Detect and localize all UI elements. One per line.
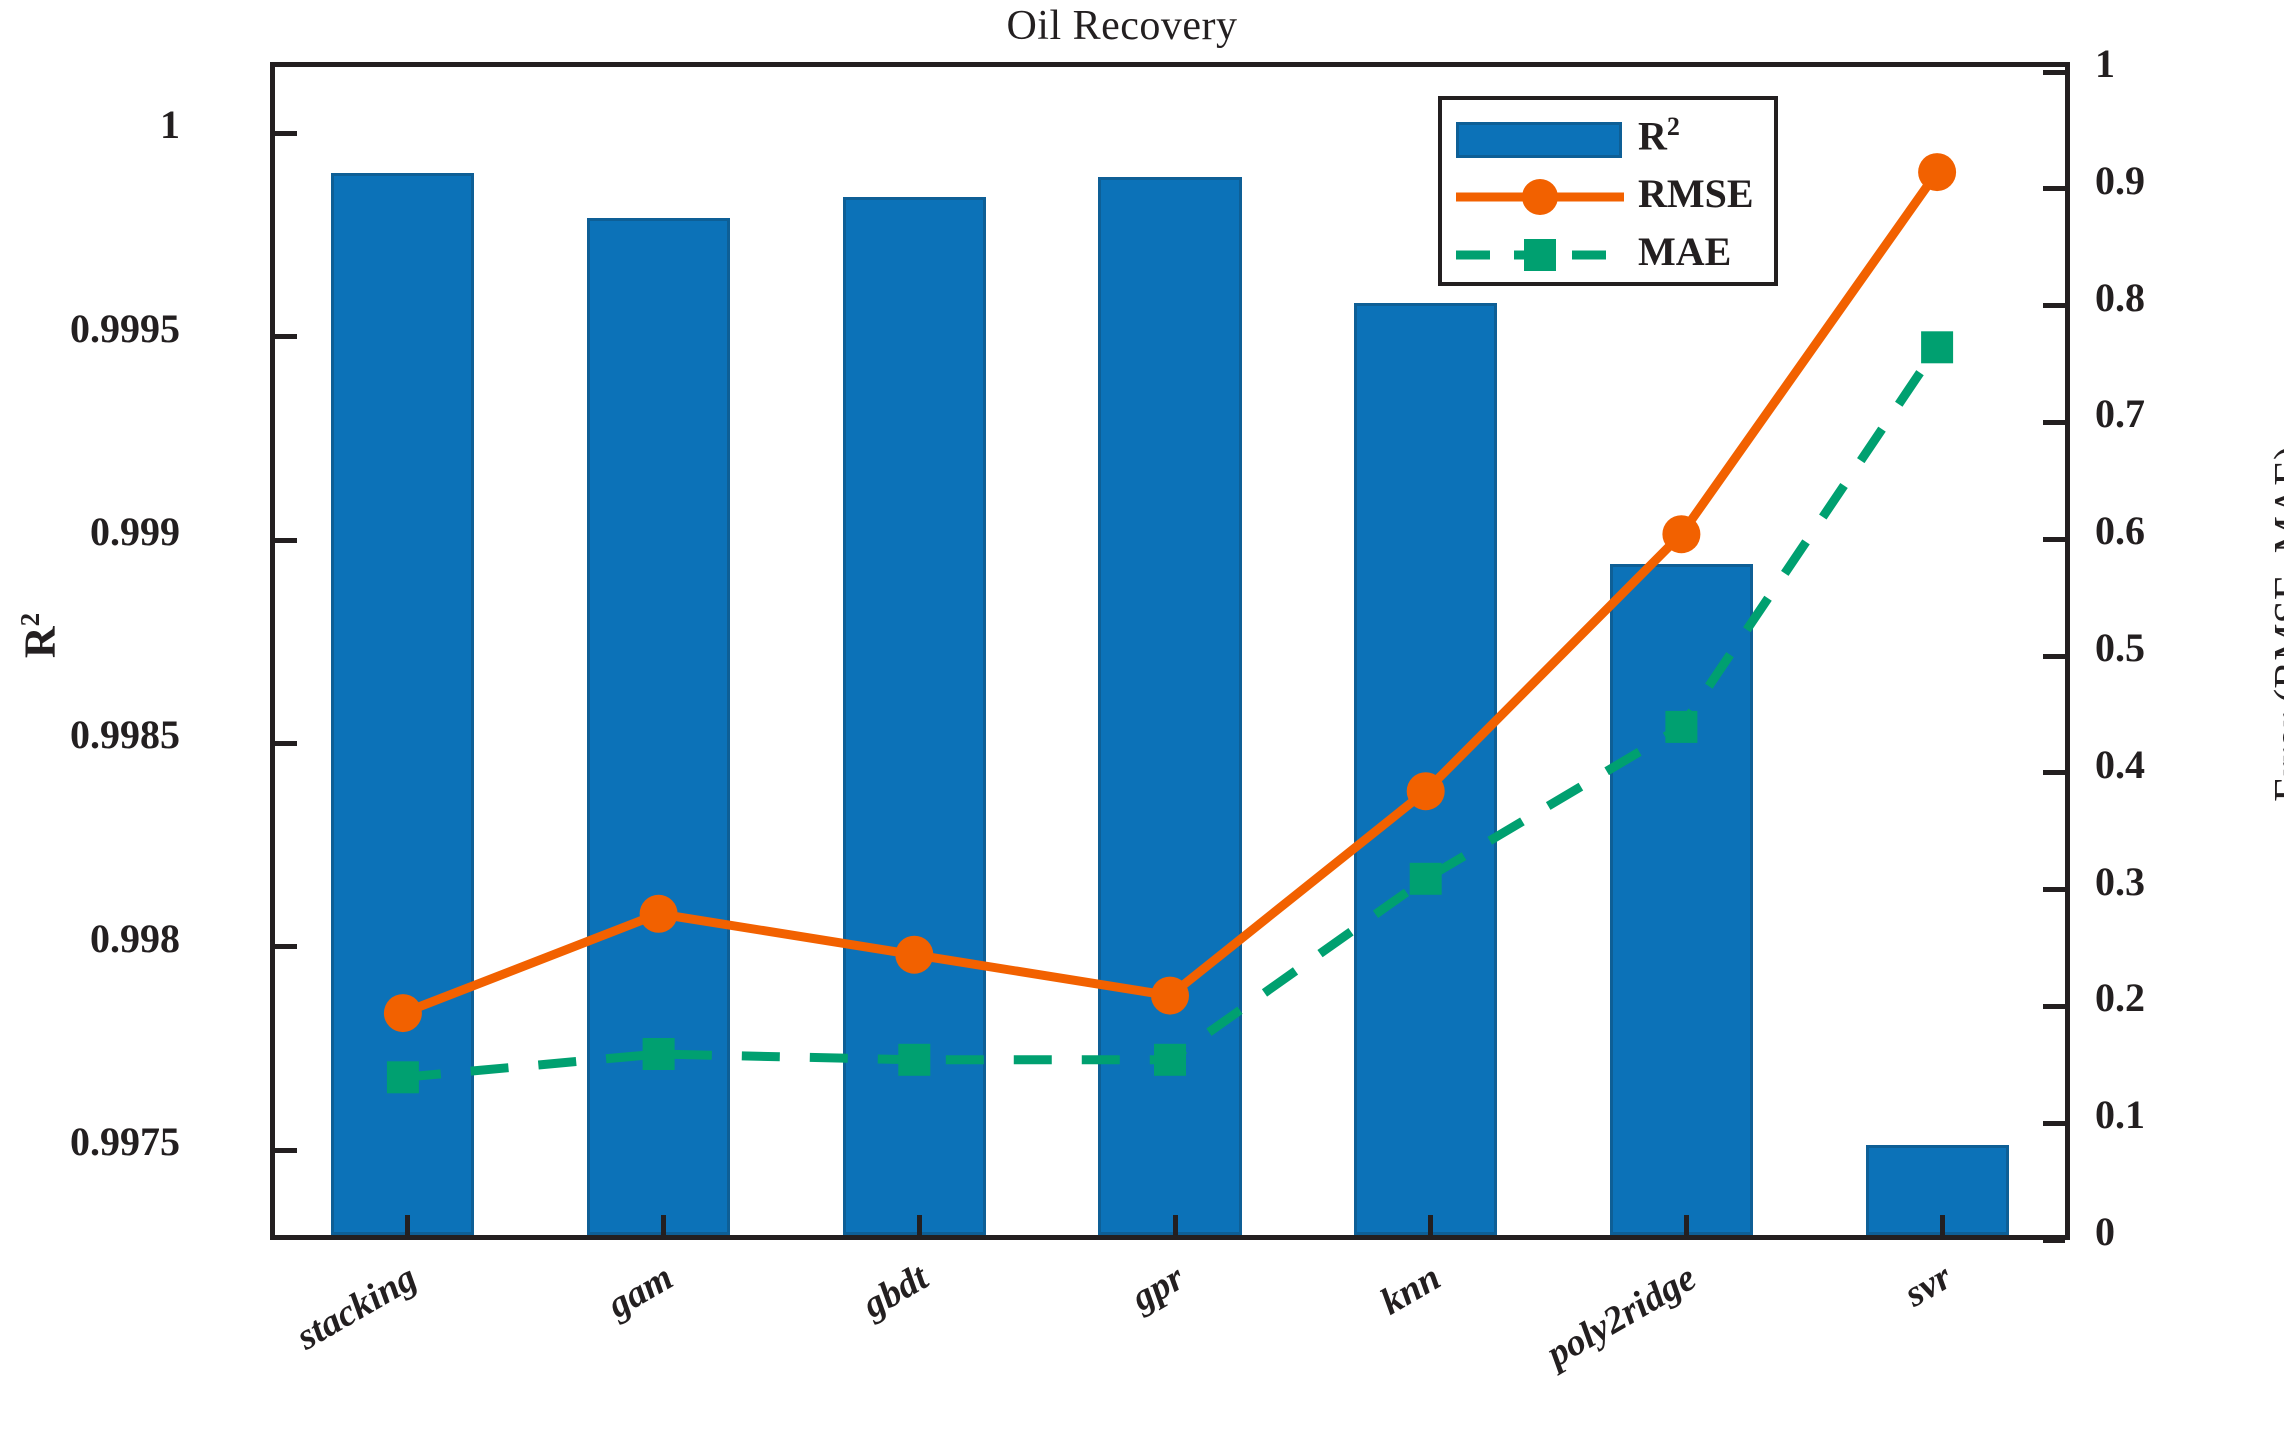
y-tick-label-left: 0.9975 — [70, 1118, 180, 1165]
y-tick-label-right: 0.7 — [2095, 390, 2145, 437]
y-tick-label-left: 0.999 — [90, 508, 180, 555]
y-tick-right — [2043, 1121, 2065, 1126]
y-tick-label-left: 0.9995 — [70, 305, 180, 352]
x-tick — [405, 1215, 410, 1235]
marker-rmse-gpr — [1151, 977, 1189, 1015]
x-tick-label-knn: knn — [1373, 1255, 1448, 1324]
legend-item-r2: R2 — [1442, 110, 1774, 168]
x-tick-label-poly2ridge: poly2ridge — [1539, 1255, 1704, 1375]
y-tick-label-right: 0.2 — [2095, 974, 2145, 1021]
marker-rmse-poly2ridge — [1662, 515, 1700, 553]
y-tick-label-right: 0.1 — [2095, 1091, 2145, 1138]
y-tick-label-right: 0.4 — [2095, 741, 2145, 788]
y-tick-right — [2043, 770, 2065, 775]
marker-mae-knn — [1410, 863, 1442, 895]
y-tick-left — [275, 741, 297, 746]
y-tick-label-right: 0 — [2095, 1208, 2115, 1255]
y-tick-left — [275, 334, 297, 339]
bar-swatch-icon — [1456, 122, 1622, 158]
y-axis-left-title-base: R — [16, 626, 65, 658]
line-circle-icon — [1454, 168, 1626, 226]
legend-label-mae: MAE — [1638, 228, 1731, 275]
legend-label-r2-base: R — [1638, 113, 1667, 158]
legend-item-rmse: RMSE — [1442, 168, 1774, 226]
marker-mae-gpr — [1154, 1044, 1186, 1076]
y-tick-left — [275, 131, 297, 136]
x-tick — [1428, 1215, 1433, 1235]
x-tick — [1173, 1215, 1178, 1235]
y-tick-label-left: 0.998 — [90, 915, 180, 962]
x-tick — [1940, 1215, 1945, 1235]
y-tick-label-right: 0.5 — [2095, 624, 2145, 671]
y-axis-left-title-sup: 2 — [15, 613, 45, 627]
x-tick-label-gpr: gpr — [1124, 1255, 1192, 1320]
marker-rmse-svr — [1918, 153, 1956, 191]
y-tick-right — [2043, 420, 2065, 425]
y-tick-label-right: 0.6 — [2095, 507, 2145, 554]
x-tick-label-stacking: stacking — [289, 1255, 424, 1359]
marker-mae-poly2ridge — [1665, 711, 1697, 743]
y-tick-label-left: 0.9985 — [70, 711, 180, 758]
marker-mae-gam — [643, 1038, 675, 1070]
legend-label-r2-sup: 2 — [1667, 112, 1680, 141]
chart-legend: R2 RMSE MAE — [1438, 96, 1778, 286]
legend-label-r2: R2 — [1638, 112, 1680, 159]
y-tick-right — [2043, 70, 2065, 75]
y-tick-left — [275, 1148, 297, 1153]
y-tick-right — [2043, 1238, 2065, 1243]
line-mae — [403, 347, 1937, 1077]
y-tick-right — [2043, 654, 2065, 659]
y-tick-right — [2043, 887, 2065, 892]
y-axis-right-title: Error (RMSE, MAE) — [2266, 394, 2284, 854]
y-tick-right — [2043, 1004, 2065, 1009]
legend-key-rmse — [1454, 168, 1626, 226]
marker-mae-svr — [1921, 331, 1953, 363]
y-tick-label-left: 1 — [160, 101, 180, 148]
chart-figure: Oil Recovery R2 Error (RMSE, MAE) 0.9975… — [0, 0, 2284, 1453]
marker-rmse-gbdt — [895, 936, 933, 974]
legend-label-rmse: RMSE — [1638, 170, 1754, 217]
line-rmse — [403, 172, 1937, 1013]
x-tick-label-svr: svr — [1897, 1255, 1959, 1316]
legend-key-mae — [1454, 226, 1626, 284]
x-tick — [917, 1215, 922, 1235]
y-tick-label-right: 0.3 — [2095, 858, 2145, 905]
y-axis-left-title: R2 — [15, 526, 66, 746]
marker-rmse-gam — [640, 895, 678, 933]
marker-rmse-knn — [1407, 772, 1445, 810]
y-tick-right — [2043, 186, 2065, 191]
y-tick-right — [2043, 537, 2065, 542]
plot-area — [275, 67, 2065, 1235]
x-tick — [661, 1215, 666, 1235]
y-tick-label-right: 1 — [2095, 40, 2115, 87]
y-tick-right — [2043, 303, 2065, 308]
legend-item-mae: MAE — [1442, 226, 1774, 284]
y-tick-left — [275, 944, 297, 949]
marker-mae-gbdt — [898, 1044, 930, 1076]
x-tick-label-gbdt: gbdt — [855, 1255, 936, 1327]
x-tick-label-gam: gam — [600, 1255, 681, 1327]
x-tick — [1684, 1215, 1689, 1235]
y-tick-left — [275, 538, 297, 543]
plot-frame — [270, 62, 2070, 1240]
marker-rmse-stacking — [384, 994, 422, 1032]
line-square-dashed-icon — [1454, 226, 1626, 284]
y-tick-label-right: 0.9 — [2095, 157, 2145, 204]
lines-layer — [275, 67, 2065, 1235]
legend-key-bar — [1454, 110, 1626, 168]
chart-title: Oil Recovery — [0, 2, 2264, 50]
marker-mae-stacking — [387, 1061, 419, 1093]
y-tick-label-right: 0.8 — [2095, 274, 2145, 321]
